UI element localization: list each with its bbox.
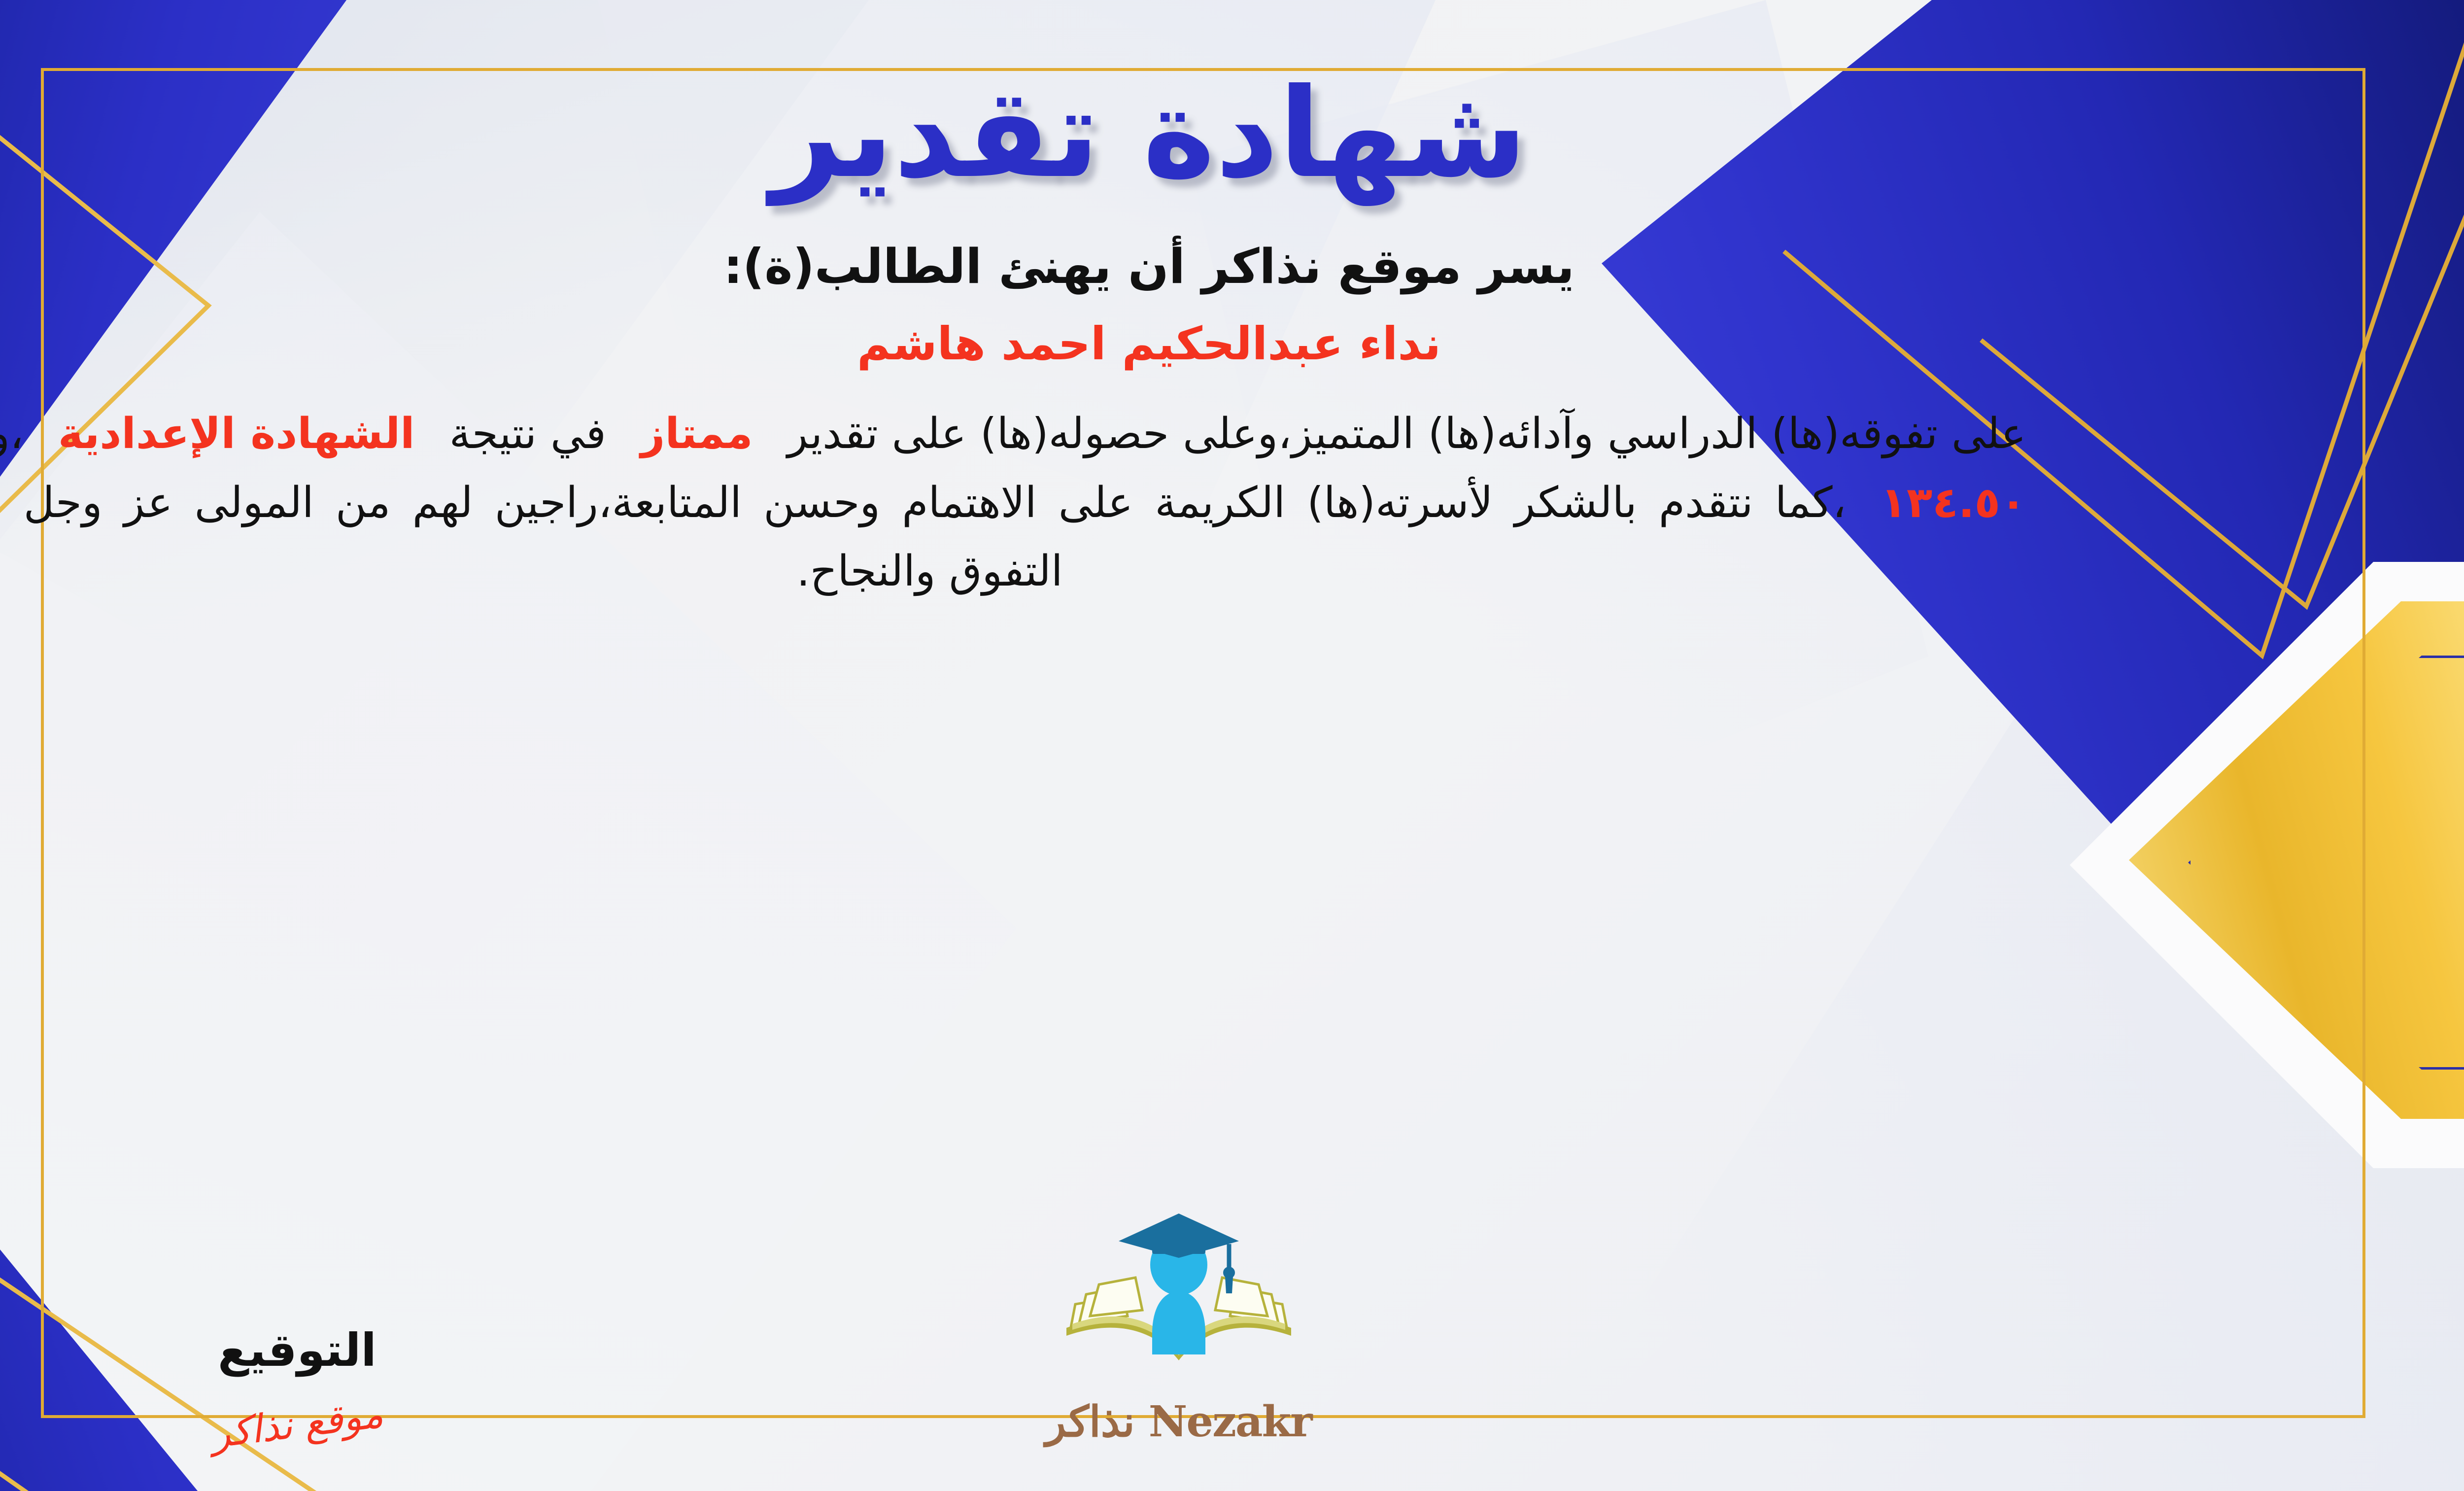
logo-wordmark: Nezakr نذاكر [1045,1397,1311,1447]
citation-segment-1: على تفوقه(ها) الدراسي وآدائه(ها) المتميز… [787,409,2026,458]
student-name: نداء عبدالحكيم احمد هاشم [272,317,2026,371]
signature-block: التوقيع موقع نذاكر [110,1324,484,1447]
exam-name: الشهادة الإعدادية [58,409,415,458]
certificate-canvas: شهادة تقدير يسر موقع نذاكر أن يهنئ الطال… [0,0,2464,1491]
grade-value: ممتاز [641,409,753,458]
certificate-footer: Nezakr نذاكر التوقيع موقع نذاكر [0,1207,2464,1447]
graduate-book-logo-icon [1056,1207,1302,1394]
intro-line: يسر موقع نذاكر أن يهنئ الطالب(ة): [272,238,2026,295]
citation-segment-4: ،كما نتقدم بالشكر لأسرته(ها) الكريمة على… [0,478,1846,596]
signature-label: التوقيع [218,1324,376,1377]
citation-segment-3: ،ومجموع [0,409,24,458]
certificate-title: شهادة تقدير [771,69,1527,199]
total-score: ١٣٤.٥٠ [1881,478,2026,527]
citation-paragraph: على تفوقه(ها) الدراسي وآدائه(ها) المتميز… [0,400,2026,606]
certificate-body: يسر موقع نذاكر أن يهنئ الطالب(ة): نداء ع… [272,238,2026,606]
brand-logo: Nezakr نذاكر [957,1207,1401,1447]
signature-handwriting: موقع نذاكر [209,1392,386,1457]
citation-segment-2: في نتيجة [449,409,606,458]
